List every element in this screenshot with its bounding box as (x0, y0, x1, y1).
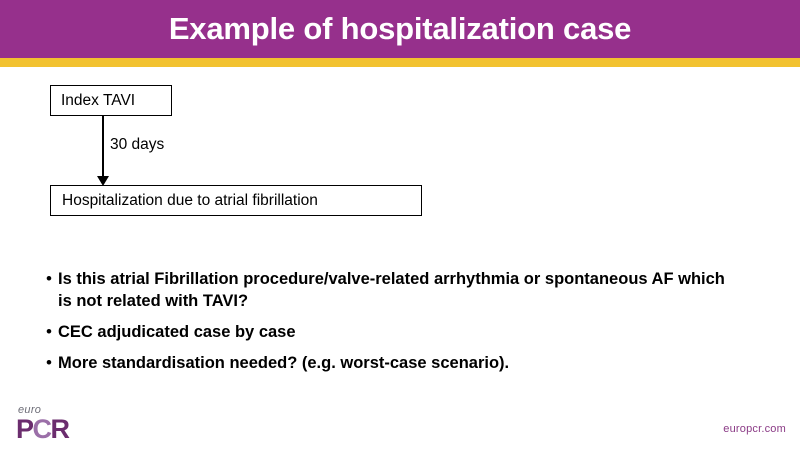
list-item: • Is this atrial Fibrillation procedure/… (40, 268, 760, 312)
logo-letter-c: C (33, 414, 51, 444)
list-item-text: Is this atrial Fibrillation procedure/va… (58, 268, 730, 312)
down-arrow-shaft-icon (102, 116, 104, 178)
flow-arrow-label: 30 days (110, 136, 164, 154)
logo-letter-r: R (51, 414, 69, 444)
list-item: • CEC adjudicated case by case (40, 321, 760, 343)
footer-url[interactable]: europcr.com (723, 423, 786, 435)
bullet-list: • Is this atrial Fibrillation procedure/… (40, 268, 760, 383)
bullet-point-icon: • (40, 268, 58, 290)
flow-box-index-tavi: Index TAVI (50, 85, 172, 116)
list-item-text: CEC adjudicated case by case (58, 321, 730, 343)
logo-pcr-text: PCR (16, 415, 69, 444)
flow-box-index-tavi-label: Index TAVI (61, 92, 135, 110)
europcr-logo: euro PCR (16, 404, 96, 446)
bullet-point-icon: • (40, 352, 58, 374)
logo-letter-p: P (16, 414, 33, 444)
list-item: • More standardisation needed? (e.g. wor… (40, 352, 760, 374)
flow-box-hospitalization: Hospitalization due to atrial fibrillati… (50, 185, 422, 216)
list-item-text: More standardisation needed? (e.g. worst… (58, 352, 730, 374)
bullet-point-icon: • (40, 321, 58, 343)
flow-box-hospitalization-label: Hospitalization due to atrial fibrillati… (62, 192, 318, 210)
